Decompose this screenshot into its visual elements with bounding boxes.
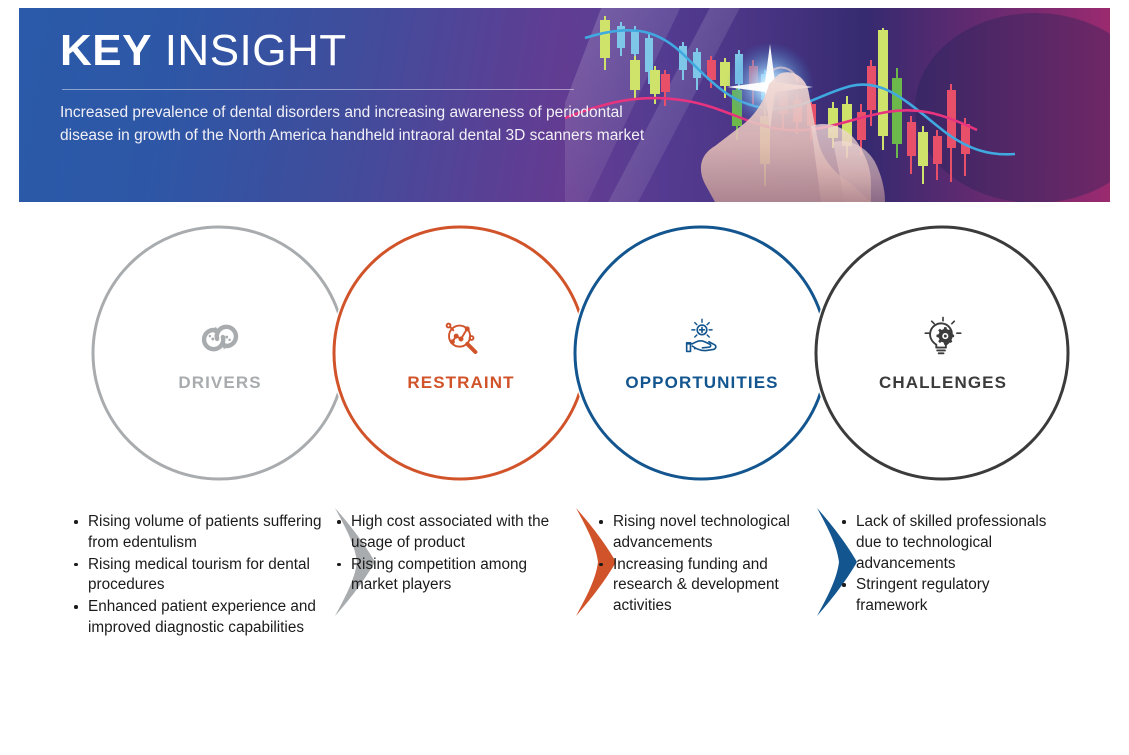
magnifier-chart-icon: [438, 316, 484, 360]
header-subtitle: Increased prevalence of dental disorders…: [60, 102, 660, 147]
node-opportunities[interactable]: OPPORTUNITIES: [569, 208, 835, 474]
bullet-column-opportunities: Rising novel technological advancements …: [593, 512, 818, 618]
node-drivers[interactable]: DRIVERS: [87, 208, 353, 474]
bullet-list-challenges: Lack of skilled professionals due to tec…: [836, 512, 1051, 617]
lightbulb-gear-icon: [920, 316, 966, 360]
node-label-challenges: CHALLENGES: [879, 374, 1007, 391]
header-divider: [62, 89, 574, 90]
list-item: Increasing funding and research & develo…: [593, 555, 818, 617]
stage-circle-row: DRIVERS: [0, 208, 1129, 498]
bullet-list-opportunities: Rising novel technological advancements …: [593, 512, 818, 617]
list-item: High cost associated with the usage of p…: [331, 512, 571, 554]
list-item: Rising volume of patients suffering from…: [68, 512, 323, 554]
bullet-column-challenges: Lack of skilled professionals due to tec…: [836, 512, 1051, 618]
list-item: Rising competition among market players: [331, 555, 571, 597]
list-item: Lack of skilled professionals due to tec…: [836, 512, 1051, 574]
bullet-column-restraint: High cost associated with the usage of p…: [331, 512, 571, 597]
list-item: Rising novel technological advancements: [593, 512, 818, 554]
key-insight-infographic: KEY INSIGHT Increased prevalence of dent…: [0, 0, 1129, 755]
node-label-restraint: RESTRAINT: [407, 374, 514, 391]
node-restraint[interactable]: RESTRAINT: [328, 208, 594, 474]
list-item: Stringent regulatory framework: [836, 575, 1051, 617]
hand-idea-icon: [679, 316, 725, 360]
list-item: Enhanced patient experience and improved…: [68, 597, 323, 639]
bullet-list-restraint: High cost associated with the usage of p…: [331, 512, 571, 596]
cycle-growth-icon: [197, 316, 243, 360]
title-bold: KEY: [60, 26, 152, 75]
header-banner: KEY INSIGHT Increased prevalence of dent…: [19, 8, 1110, 202]
node-label-opportunities: OPPORTUNITIES: [625, 374, 778, 391]
node-label-drivers: DRIVERS: [178, 374, 261, 391]
bullet-list-drivers: Rising volume of patients suffering from…: [68, 512, 323, 639]
header-text-block: KEY INSIGHT Increased prevalence of dent…: [60, 28, 680, 147]
list-item: Rising medical tourism for dental proced…: [68, 555, 323, 597]
bullet-column-drivers: Rising volume of patients suffering from…: [68, 512, 323, 640]
title-light: INSIGHT: [152, 26, 347, 75]
node-challenges[interactable]: CHALLENGES: [810, 208, 1076, 474]
page-title: KEY INSIGHT: [60, 28, 680, 74]
